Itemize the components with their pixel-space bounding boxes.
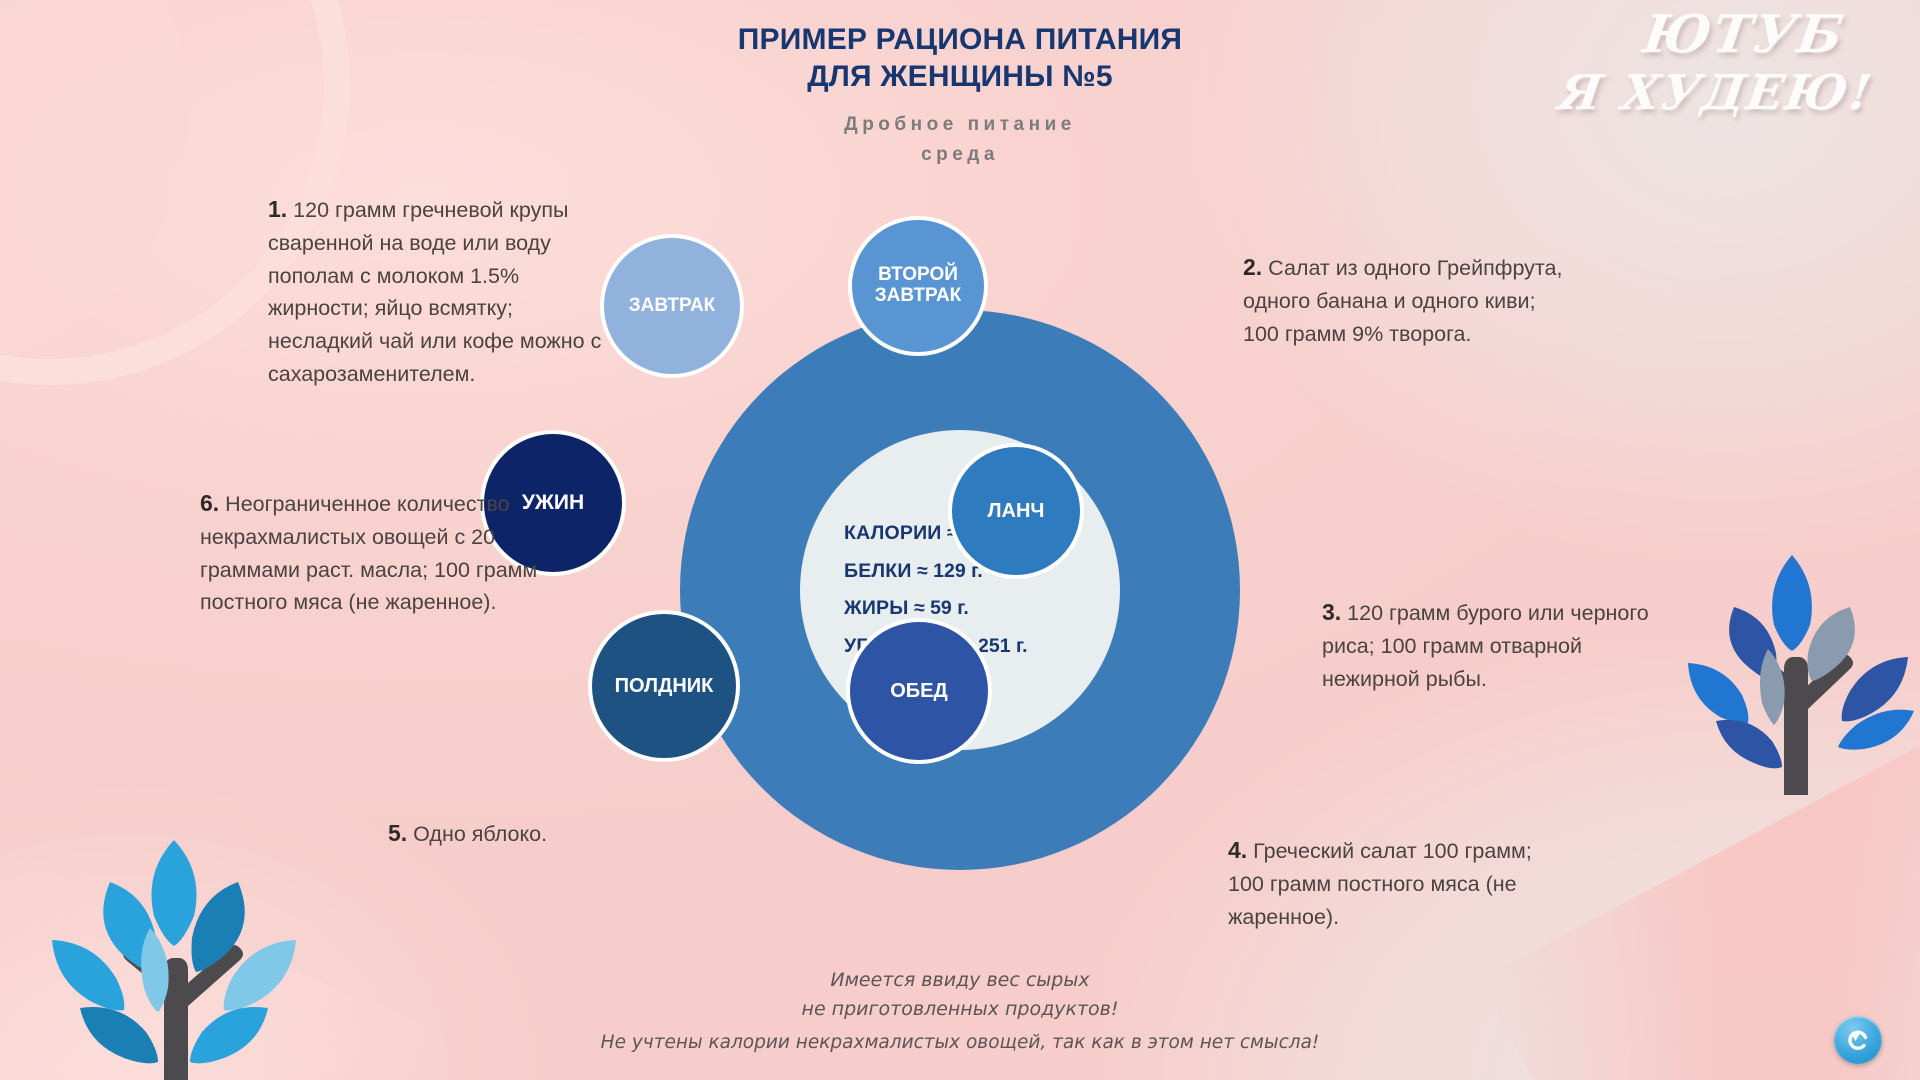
meal-description-4: 4. Греческий салат 100 грамм; 100 грамм … [1228, 833, 1558, 933]
fat-value: ≈ 59 г. [914, 597, 969, 619]
footnote-vegetables: Не учтены калории некрахмалистых овощей,… [0, 1032, 1920, 1053]
meal-label-breakfast: ЗАВТРАК [629, 296, 716, 317]
meal-text-1: 120 грамм гречневой крупы сваренной на в… [268, 198, 601, 386]
meal-description-6: 6. Неограниченное количество некрахмалис… [200, 486, 570, 619]
meal-cycle-diagram: КАЛОРИИ ≈ 2055 ккал. БЕЛКИ ≈ 129 г. ЖИРЫ… [648, 278, 1272, 902]
meal-bubble-dinner[interactable]: ОБЕД [846, 618, 992, 764]
meal-number-6: 6. [200, 490, 219, 516]
refresh-icon [1843, 1025, 1873, 1055]
meal-description-3: 3. 120 грамм бурого или черного риса; 10… [1322, 595, 1667, 695]
refresh-button[interactable] [1834, 1016, 1882, 1064]
protein-label: БЕЛКИ [844, 560, 912, 582]
meal-bubble-breakfast[interactable]: ЗАВТРАК [600, 234, 744, 378]
tree-icon-right [1672, 545, 1920, 795]
meal-number-1: 1. [268, 196, 287, 222]
footnote-raw-weight: Имеется ввиду вес сырых не приготовленны… [0, 966, 1920, 1023]
meal-label-dinner: ОБЕД [890, 680, 948, 702]
meal-text-2: Салат из одного Грейпфрута, одного банан… [1243, 256, 1562, 346]
meal-number-5: 5. [388, 820, 407, 846]
meal-label-afternoon-snack: ПОЛДНИК [615, 675, 714, 697]
meal-number-3: 3. [1322, 599, 1341, 625]
meal-label-second-breakfast: ВТОРОЙ ЗАВТРАК [852, 265, 984, 307]
meal-label-lunch: ЛАНЧ [988, 500, 1045, 522]
meal-bubble-second-breakfast[interactable]: ВТОРОЙ ЗАВТРАК [848, 216, 988, 356]
meal-description-5: 5. Одно яблоко. [388, 816, 668, 851]
meal-description-1: 1. 120 грамм гречневой крупы сваренной н… [268, 192, 614, 390]
meal-text-4: Греческий салат 100 грамм; 100 грамм пос… [1228, 839, 1532, 929]
meal-text-6: Неограниченное количество некрахмалистых… [200, 492, 537, 614]
meal-bubble-afternoon-snack[interactable]: ПОЛДНИК [588, 610, 740, 762]
meal-text-3: 120 грамм бурого или черного риса; 100 г… [1322, 601, 1649, 691]
fat-row: ЖИРЫ ≈ 59 г. [844, 599, 969, 619]
footnote-line-1: Имеется ввиду вес сырых [0, 966, 1920, 995]
calories-label: КАЛОРИИ [844, 522, 942, 544]
meal-number-2: 2. [1243, 254, 1262, 280]
protein-row: БЕЛКИ ≈ 129 г. [844, 562, 983, 582]
meal-description-2: 2. Салат из одного Грейпфрута, одного ба… [1243, 250, 1573, 350]
meal-number-4: 4. [1228, 837, 1247, 863]
fat-label: ЖИРЫ [844, 597, 909, 619]
footnote-line-2: не приготовленных продуктов! [0, 995, 1920, 1024]
meal-bubble-lunch[interactable]: ЛАНЧ [948, 443, 1084, 579]
meal-text-5: Одно яблоко. [413, 822, 547, 846]
